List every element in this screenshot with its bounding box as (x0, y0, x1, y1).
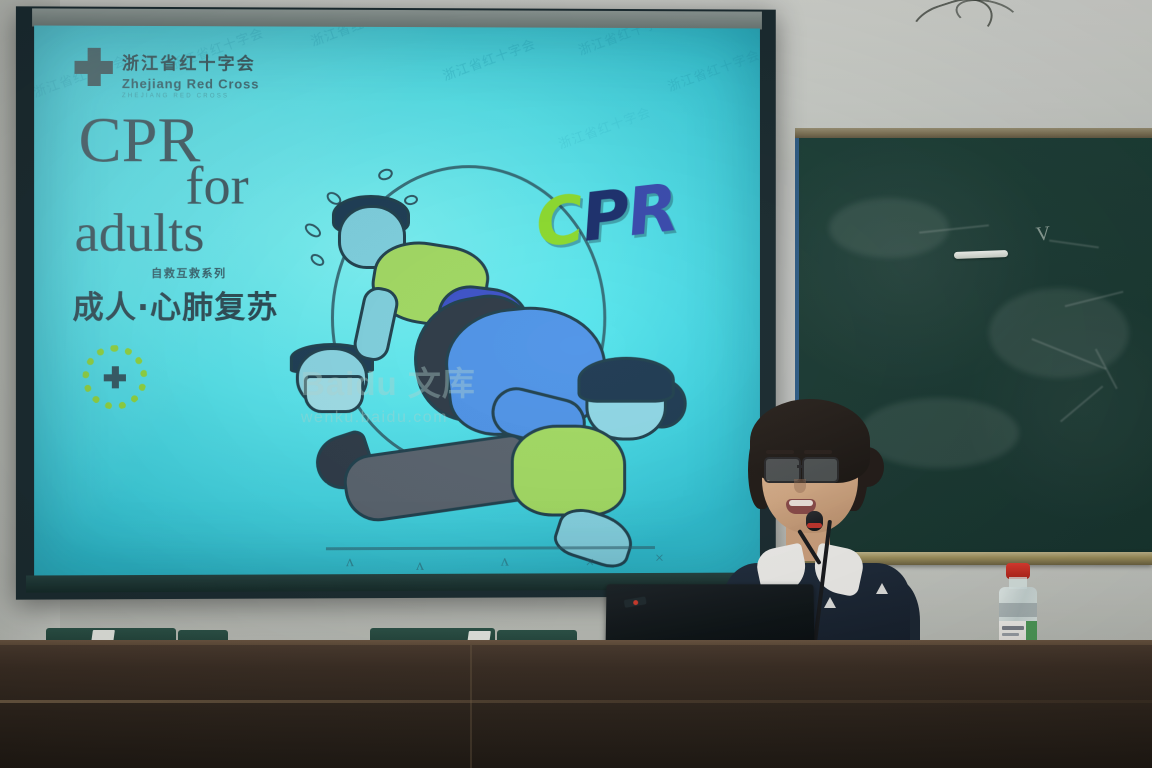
projection-screen-frame: 浙江省红十字会 浙江省红十字会 浙江省红十字会 浙江省红十字会 浙江省红十字会 … (16, 6, 776, 599)
podium-seam (470, 645, 472, 768)
slide-tiled-watermark: 浙江省红十字会 (308, 25, 407, 49)
microphone-indicator (807, 523, 822, 528)
presenter-eyebrow-right (804, 450, 832, 454)
org-tagline: ZHEJIANG RED CROSS (122, 93, 259, 99)
slide-tiled-watermark: 浙江省红十字会 (665, 44, 760, 95)
slide-series-label: 自救互救系列 (151, 265, 226, 281)
presenter-eyebrow-left (766, 450, 794, 454)
slide-subtitle-cn: 成人·心肺复苏 (72, 282, 278, 327)
org-name-en: Zhejiang Red Cross (122, 76, 259, 91)
laurel-wreath-cross-icon (83, 345, 148, 409)
podium-front-panel (0, 645, 1152, 768)
presenter-teeth (789, 500, 813, 506)
chalk-mark: V (1035, 222, 1052, 246)
cartoon-victim1-mask (304, 375, 364, 413)
podium-highlight (0, 700, 1152, 703)
slide-title-line3: adults (75, 202, 205, 264)
bottle-label-text (1002, 626, 1024, 630)
wreath-cross-icon (104, 366, 126, 388)
red-cross-icon (75, 48, 113, 86)
slide-tiled-watermark: 浙江省红十字会 (575, 25, 673, 58)
bottle-label-text-secondary (1002, 633, 1019, 636)
cartoon-victim2-shirt (511, 425, 626, 517)
red-cross-logo: 浙江省红十字会 Zhejiang Red Cross ZHEJIANG RED … (75, 48, 260, 100)
lecture-hall-scene: V 浙江省红十字会 浙江省红十字会 浙江省红十字会 浙江省红十字会 浙江省红十字… (0, 0, 1152, 768)
slide-title-line1: CPR (79, 111, 201, 170)
cartoon-figure-hair (577, 357, 674, 403)
slide-tiled-watermark: 浙江省红十字会 (555, 102, 653, 153)
cpr-cartoon-illustration: CPR ʌ ʌ (286, 147, 724, 577)
cartoon-victim-legs (340, 432, 533, 526)
eyeglasses-bridge (797, 465, 802, 468)
org-name-cn: 浙江省红十字会 (122, 49, 259, 75)
laptop-logo-dot-icon (633, 600, 638, 605)
bottle-upper-label-band (999, 603, 1037, 617)
chalk-stick-icon (954, 250, 1008, 259)
eyeglasses-icon (802, 457, 839, 483)
microphone-icon (806, 511, 823, 531)
presenter-nose (794, 479, 806, 493)
slide-tiled-watermark: 浙江省红十字会 (440, 33, 538, 84)
projected-slide: 浙江省红十字会 浙江省红十字会 浙江省红十字会 浙江省红十字会 浙江省红十字会 … (34, 25, 760, 576)
cartoon-cpr-word: CPR (532, 169, 681, 262)
